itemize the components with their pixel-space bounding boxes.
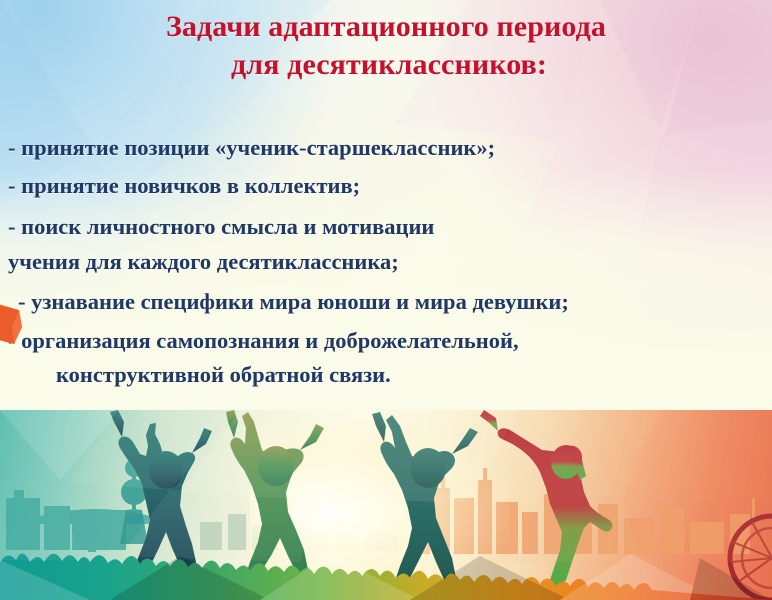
body-line-6: - организация самопознания и доброжелате… (0, 326, 772, 356)
body-line-4: учения для каждого десятиклассника; (0, 247, 772, 277)
illustration-polygon-facets (0, 410, 772, 600)
presentation-slide: Задачи адаптационного периода для десяти… (0, 0, 772, 600)
slide-title: Задачи адаптационного периода для десяти… (0, 8, 772, 84)
slide-body-list: - принятие позиции «ученик-старшеклассни… (0, 133, 772, 390)
body-line-1: - принятие позиции «ученик-старшеклассни… (0, 133, 772, 163)
body-line-5: - узнавание специфики мира юноши и мира … (0, 287, 772, 317)
body-line-2: - принятие новичков в коллектив; (0, 171, 772, 201)
body-line-7: конструктивной обратной связи. (0, 360, 772, 390)
title-line-2: для десятиклассников: (0, 46, 772, 84)
slide-illustration (0, 410, 772, 600)
body-line-3: - поиск личностного смысла и мотивации (0, 212, 772, 242)
title-line-1: Задачи адаптационного периода (0, 8, 772, 46)
